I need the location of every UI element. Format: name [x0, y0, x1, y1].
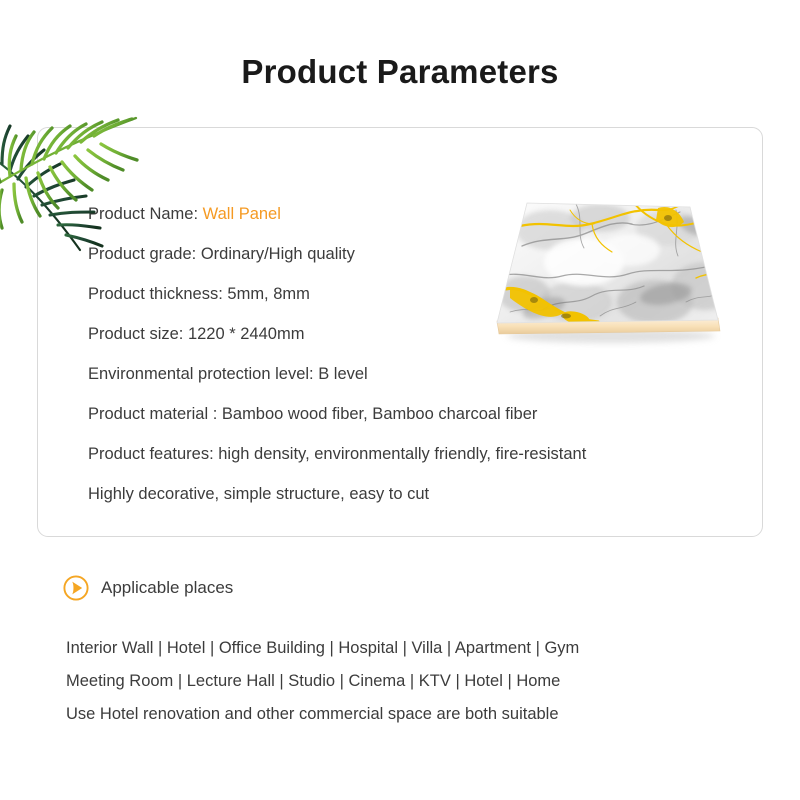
page-title: Product Parameters [0, 50, 800, 94]
applicable-places-title: Applicable places [101, 574, 233, 602]
spec-value-product-name: Wall Panel [203, 205, 281, 223]
spec-row-product-features: Product features: high density, environm… [88, 434, 708, 474]
arrow-circle-icon [62, 574, 90, 602]
applicable-places-list: Interior Wall | Hotel | Office Building … [66, 632, 766, 731]
applicable-places-header: Applicable places [62, 574, 233, 602]
spec-row-environmental-level: Environmental protection level: B level [88, 354, 708, 394]
spec-label-product-name: Product Name: [88, 205, 198, 223]
spec-row-product-thickness: Product thickness: 5mm, 8mm [88, 274, 708, 314]
applicable-places-line-2: Meeting Room | Lecture Hall | Studio | C… [66, 665, 766, 698]
product-parameters-page: Product Parameters [0, 0, 800, 800]
spec-row-product-size: Product size: 1220 * 2440mm [88, 314, 708, 354]
applicable-places-line-1: Interior Wall | Hotel | Office Building … [66, 632, 766, 665]
applicable-places-line-3: Use Hotel renovation and other commercia… [66, 698, 766, 731]
spec-row-product-name: Product Name: Wall Panel [88, 194, 708, 234]
spec-row-product-grade: Product grade: Ordinary/High quality [88, 234, 708, 274]
spec-list: Product Name: Wall Panel Product grade: … [88, 194, 708, 514]
spec-row-extra-features: Highly decorative, simple structure, eas… [88, 474, 708, 514]
spec-row-product-material: Product material : Bamboo wood fiber, Ba… [88, 394, 708, 434]
